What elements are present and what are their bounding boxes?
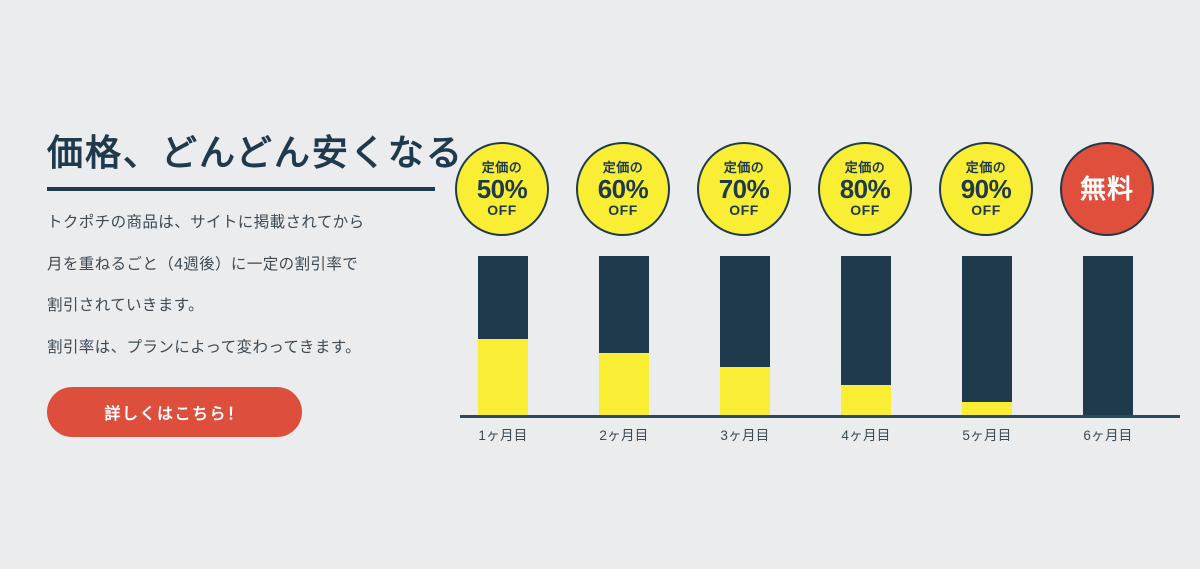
- x-axis-label-month-6: 6ヶ月目: [1060, 424, 1156, 444]
- description-line: 割引率は、プランによって変わってきます。: [47, 340, 447, 356]
- badge-prefix-label: 定価の: [845, 161, 886, 174]
- discount-badge-month-5: 定価の 90% OFF: [939, 142, 1033, 236]
- bar-fill-discount: [841, 385, 891, 415]
- badge-off-label: OFF: [850, 203, 880, 217]
- badge-prefix-label: 定価の: [724, 161, 765, 174]
- x-axis-label-month-2: 2ヶ月目: [576, 424, 672, 444]
- badge-off-label: OFF: [971, 203, 1001, 217]
- x-axis-line: [460, 415, 1180, 418]
- left-content-block: 価格、どんどん安くなる トクポチの商品は、サイトに掲載されてから 月を重ねるごと…: [47, 132, 447, 437]
- badge-percent-value: 80%: [840, 176, 891, 202]
- description-line: 月を重ねるごと（4週後）に一定の割引率で: [47, 257, 447, 273]
- badge-percent-value: 60%: [598, 176, 649, 202]
- bar-month-5: [962, 256, 1012, 415]
- badge-off-label: OFF: [487, 203, 517, 217]
- badge-prefix-label: 定価の: [966, 161, 1007, 174]
- bar-month-4: [841, 256, 891, 415]
- x-axis-label-month-4: 4ヶ月目: [818, 424, 914, 444]
- x-axis-label-month-5: 5ヶ月目: [939, 424, 1035, 444]
- badge-prefix-label: 定価の: [603, 161, 644, 174]
- discount-badge-month-4: 定価の 80% OFF: [818, 142, 912, 236]
- bar-month-1: [478, 256, 528, 415]
- badge-free-label: 無料: [1080, 176, 1134, 202]
- bar-fill-discount: [962, 402, 1012, 415]
- free-badge-month-6: 無料: [1060, 142, 1154, 236]
- bar-month-3: [720, 256, 770, 415]
- bar-month-6: [1083, 256, 1133, 415]
- page-title: 価格、どんどん安くなる: [47, 132, 447, 173]
- x-axis-label-month-3: 3ヶ月目: [697, 424, 793, 444]
- badge-off-label: OFF: [608, 203, 638, 217]
- bar-fill-discount: [478, 339, 528, 415]
- discount-badge-month-2: 定価の 60% OFF: [576, 142, 670, 236]
- badge-percent-value: 50%: [477, 176, 528, 202]
- badge-percent-value: 90%: [961, 176, 1012, 202]
- learn-more-button[interactable]: 詳しくはこちら！: [47, 387, 302, 437]
- description-line: 割引されていきます。: [47, 298, 447, 314]
- discount-badge-month-3: 定価の 70% OFF: [697, 142, 791, 236]
- x-axis-label-month-1: 1ヶ月目: [455, 424, 551, 444]
- bar-month-2: [599, 256, 649, 415]
- title-underline-divider: [47, 187, 435, 191]
- discount-bar-chart: 定価の 50% OFF 1ヶ月目 定価の 60% OFF 2ヶ月目: [455, 130, 1185, 460]
- badge-percent-value: 70%: [719, 176, 770, 202]
- bar-fill-discount: [720, 367, 770, 415]
- description-line: トクポチの商品は、サイトに掲載されてから: [47, 215, 447, 231]
- bar-fill-discount: [599, 353, 649, 415]
- description-paragraph: トクポチの商品は、サイトに掲載されてから 月を重ねるごと（4週後）に一定の割引率…: [47, 215, 447, 355]
- discount-badge-month-1: 定価の 50% OFF: [455, 142, 549, 236]
- badge-off-label: OFF: [729, 203, 759, 217]
- pricing-discount-infographic: 価格、どんどん安くなる トクポチの商品は、サイトに掲載されてから 月を重ねるごと…: [0, 0, 1200, 569]
- badge-prefix-label: 定価の: [482, 161, 523, 174]
